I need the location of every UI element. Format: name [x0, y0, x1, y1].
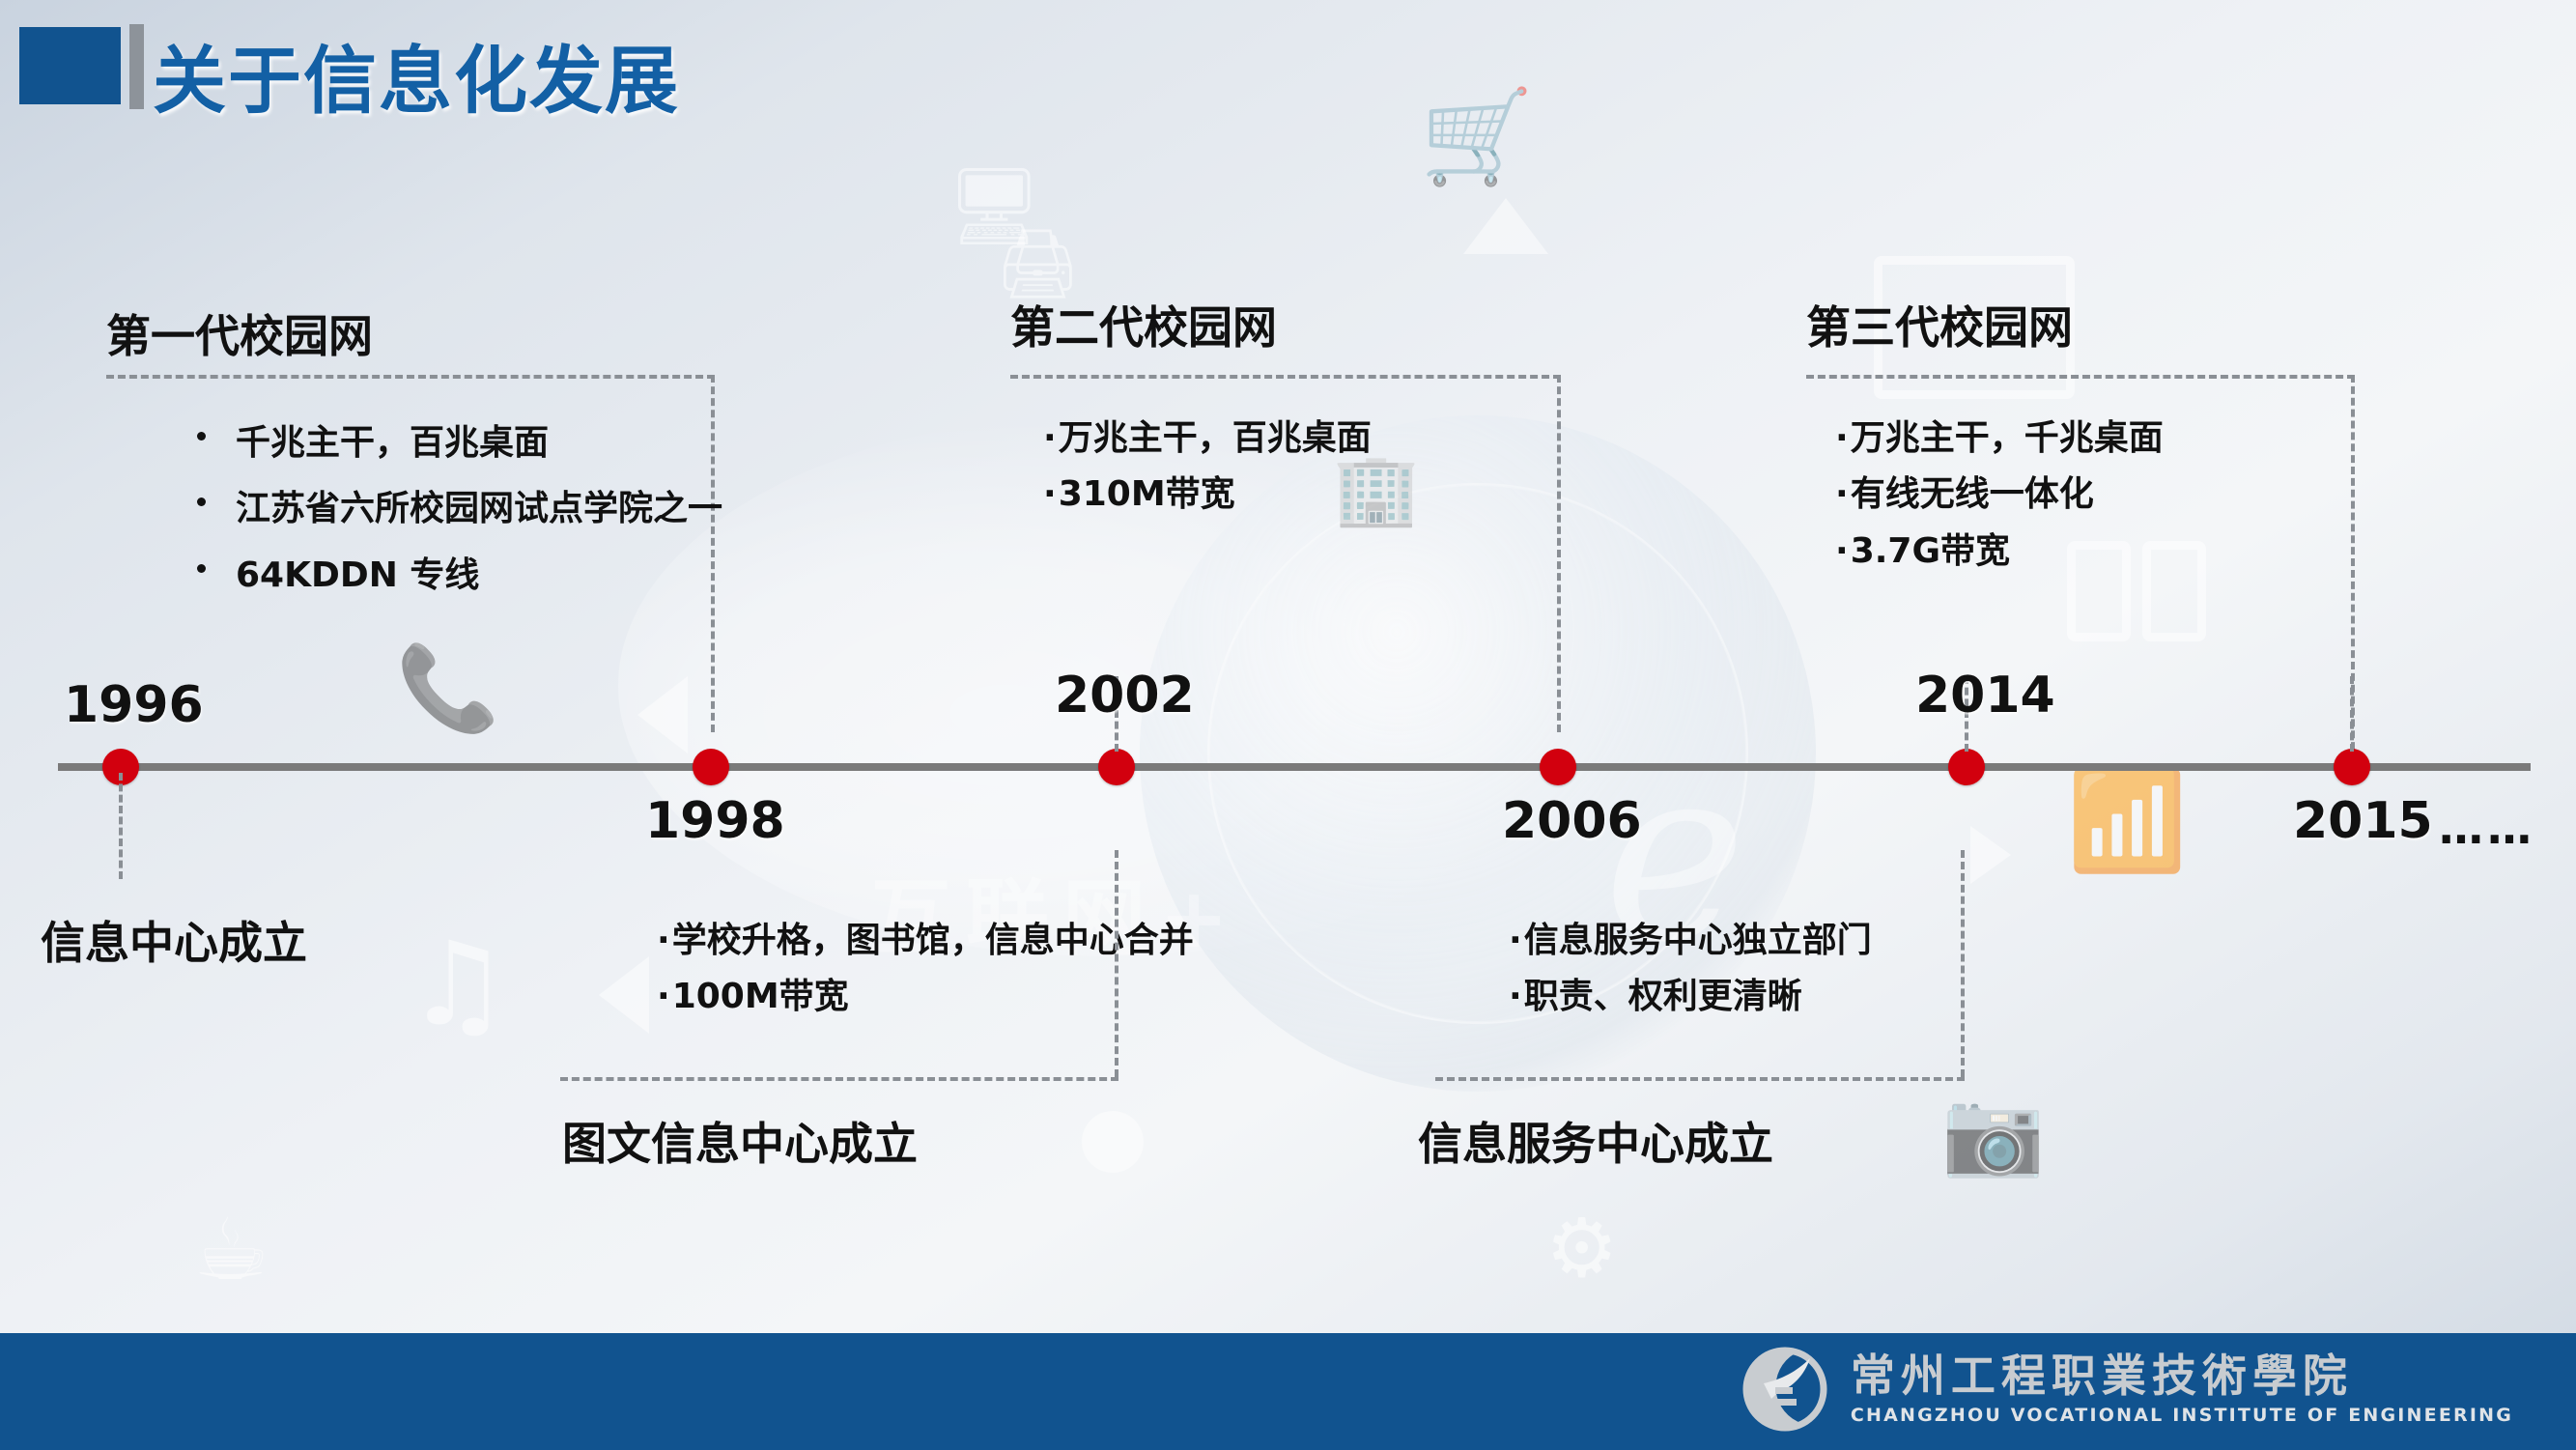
footer-bar: 常州工程职業技術學院 CHANGZHOU VOCATIONAL INSTITUT…: [0, 1333, 2576, 1450]
generation-title-1: 第一代校园网: [106, 301, 373, 365]
monitor-icon: 🖥: [947, 169, 1042, 244]
timeline-dot-2015[interactable]: [2334, 749, 2370, 785]
list-item: 学校升格，图书馆，信息中心合并: [657, 913, 1194, 969]
event-label-1996: 信息中心成立: [41, 908, 307, 972]
event-label-1998: 图文信息中心成立: [562, 1109, 918, 1173]
music-note-icon: ♫: [406, 927, 510, 1043]
logo-mark-icon: [1741, 1345, 1829, 1434]
generation-bullets-2: 万兆主干，百兆桌面 310M带宽: [1043, 411, 1372, 524]
coffee-icon: ☕: [193, 1208, 269, 1293]
header-accent-block: [19, 27, 121, 104]
list-item: 310M带宽: [1043, 467, 1372, 523]
below-note-bullets-1998: 学校升格，图书馆，信息中心合并 100M带宽: [657, 913, 1194, 1026]
timeline-axis: [58, 763, 2531, 771]
bracket-top-2: [1010, 375, 1561, 379]
page-title: 关于信息化发展: [153, 21, 680, 128]
timeline-dot-2002[interactable]: [1098, 749, 1135, 785]
list-item: 职责、权利更清晰: [1509, 969, 1872, 1025]
institution-logo: 常州工程职業技術學院 CHANGZHOU VOCATIONAL INSTITUT…: [1741, 1345, 2513, 1434]
generation-title-3: 第三代校园网: [1806, 293, 2073, 356]
connector-1996: [119, 773, 123, 879]
institution-name-en: CHANGZHOU VOCATIONAL INSTITUTE OF ENGINE…: [1851, 1405, 2513, 1426]
bracket-left-2006: [1961, 850, 1965, 1077]
event-label-2006: 信息服务中心成立: [1418, 1109, 1773, 1173]
bracket-bottom-1998: [560, 1077, 1118, 1081]
year-label-1998: 1998: [645, 792, 785, 850]
phone-icon: 📞: [396, 647, 499, 730]
bracket-top-1: [106, 375, 715, 379]
list-item: 3.7G带宽: [1835, 524, 2164, 580]
institution-name-cn: 常州工程职業技術學院: [1851, 1352, 2513, 1399]
list-item: 万兆主干，百兆桌面: [1043, 411, 1372, 467]
cart-icon: 🛒: [1420, 92, 1534, 184]
list-item: 信息服务中心独立部门: [1509, 913, 1872, 969]
year-label-2014: 2014: [1915, 667, 2055, 725]
header-accent-bar: [129, 24, 144, 109]
list-item: 千兆主干，百兆桌面: [184, 411, 722, 476]
timeline-ellipsis: ……: [2439, 802, 2535, 854]
year-label-2015: 2015: [2293, 792, 2433, 850]
list-item: 万兆主干，千兆桌面: [1835, 411, 2164, 467]
gear-icon: ⚙: [1545, 1208, 1618, 1289]
list-item: 100M带宽: [657, 969, 1194, 1025]
right-arrow-icon: [1970, 826, 2011, 884]
year-label-2006: 2006: [1502, 792, 1642, 850]
below-note-bullets-2006: 信息服务中心独立部门 职责、权利更清晰: [1509, 913, 1872, 1026]
left-arrow-icon-2: [599, 956, 649, 1034]
list-item: 有线无线一体化: [1835, 467, 2164, 523]
printer-icon: 🖨: [995, 230, 1081, 298]
generation-title-2: 第二代校园网: [1010, 293, 1277, 356]
institution-name-block: 常州工程职業技術學院 CHANGZHOU VOCATIONAL INSTITUT…: [1851, 1352, 2513, 1426]
dot-decoration: [1082, 1111, 1144, 1173]
left-arrow-icon: [637, 676, 688, 753]
bracket-right-2: [1557, 375, 1561, 732]
timeline-dot-2014[interactable]: [1948, 749, 1985, 785]
timeline-dot-2006[interactable]: [1540, 749, 1576, 785]
generation-bullets-3: 万兆主干，千兆桌面 有线无线一体化 3.7G带宽: [1835, 411, 2164, 580]
generation-bullets-1: 千兆主干，百兆桌面 江苏省六所校园网试点学院之一 64KDDN 专线: [184, 411, 722, 609]
bracket-top-3: [1806, 375, 2355, 379]
list-item: 64KDDN 专线: [184, 543, 722, 609]
bracket-bottom-2006: [1435, 1077, 1965, 1081]
connector-2015: [2350, 676, 2354, 752]
bracket-left-1998: [1115, 850, 1118, 1077]
list-item: 江苏省六所校园网试点学院之一: [184, 476, 722, 542]
camera-icon: 📷: [1941, 1092, 2045, 1175]
year-label-2002: 2002: [1055, 667, 1195, 725]
year-label-1996: 1996: [64, 676, 204, 734]
wifi-icon: 📶: [2067, 773, 2188, 869]
up-arrow-icon: [1463, 198, 1548, 254]
timeline-dot-1998[interactable]: [693, 749, 729, 785]
